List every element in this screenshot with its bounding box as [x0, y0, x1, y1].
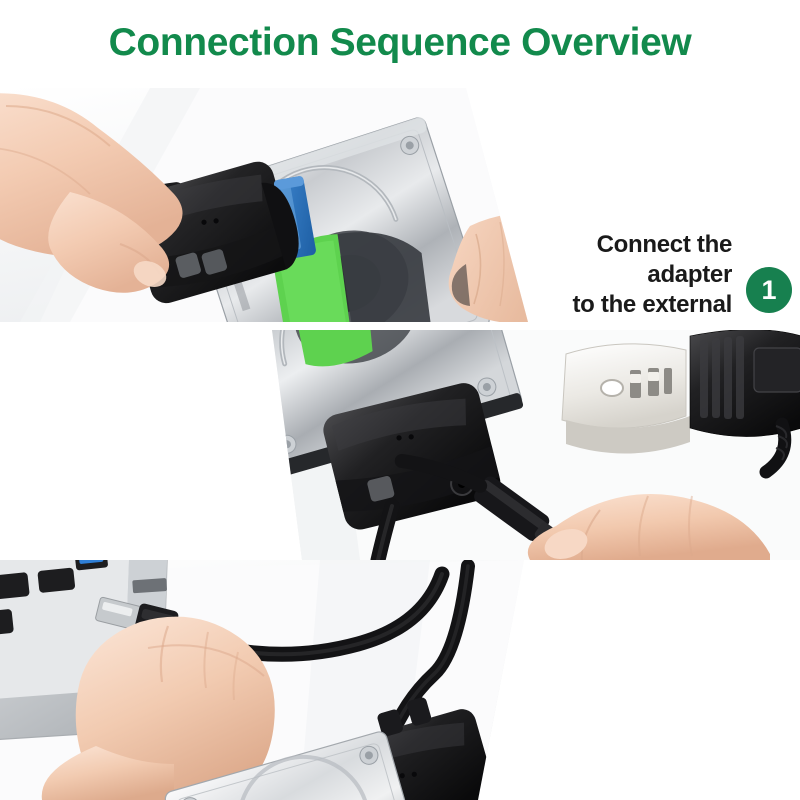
step-3-photo: [0, 560, 540, 800]
step-1-line-1: Connect the adapter: [520, 230, 732, 290]
page-title: Connection Sequence Overview: [0, 18, 800, 68]
step-1-caption: Connect the adapter to the external disk…: [520, 230, 792, 322]
step-panel-2: 2 Connect to the power supply. Note: DC …: [0, 330, 800, 560]
step-panel-3: Plug in the USB porton PC/laptop. 3: [0, 560, 800, 800]
step-2-photo: [0, 330, 800, 560]
step-1-badge: 1: [746, 267, 792, 313]
step-panel-1: Connect the adapter to the external disk…: [0, 88, 800, 322]
step-1-text: Connect the adapter to the external disk…: [520, 230, 732, 322]
step-1-line-2: to the external disk.: [520, 290, 732, 322]
infographic-page: Connection Sequence Overview: [0, 0, 800, 800]
step-1-photo: [0, 88, 540, 322]
